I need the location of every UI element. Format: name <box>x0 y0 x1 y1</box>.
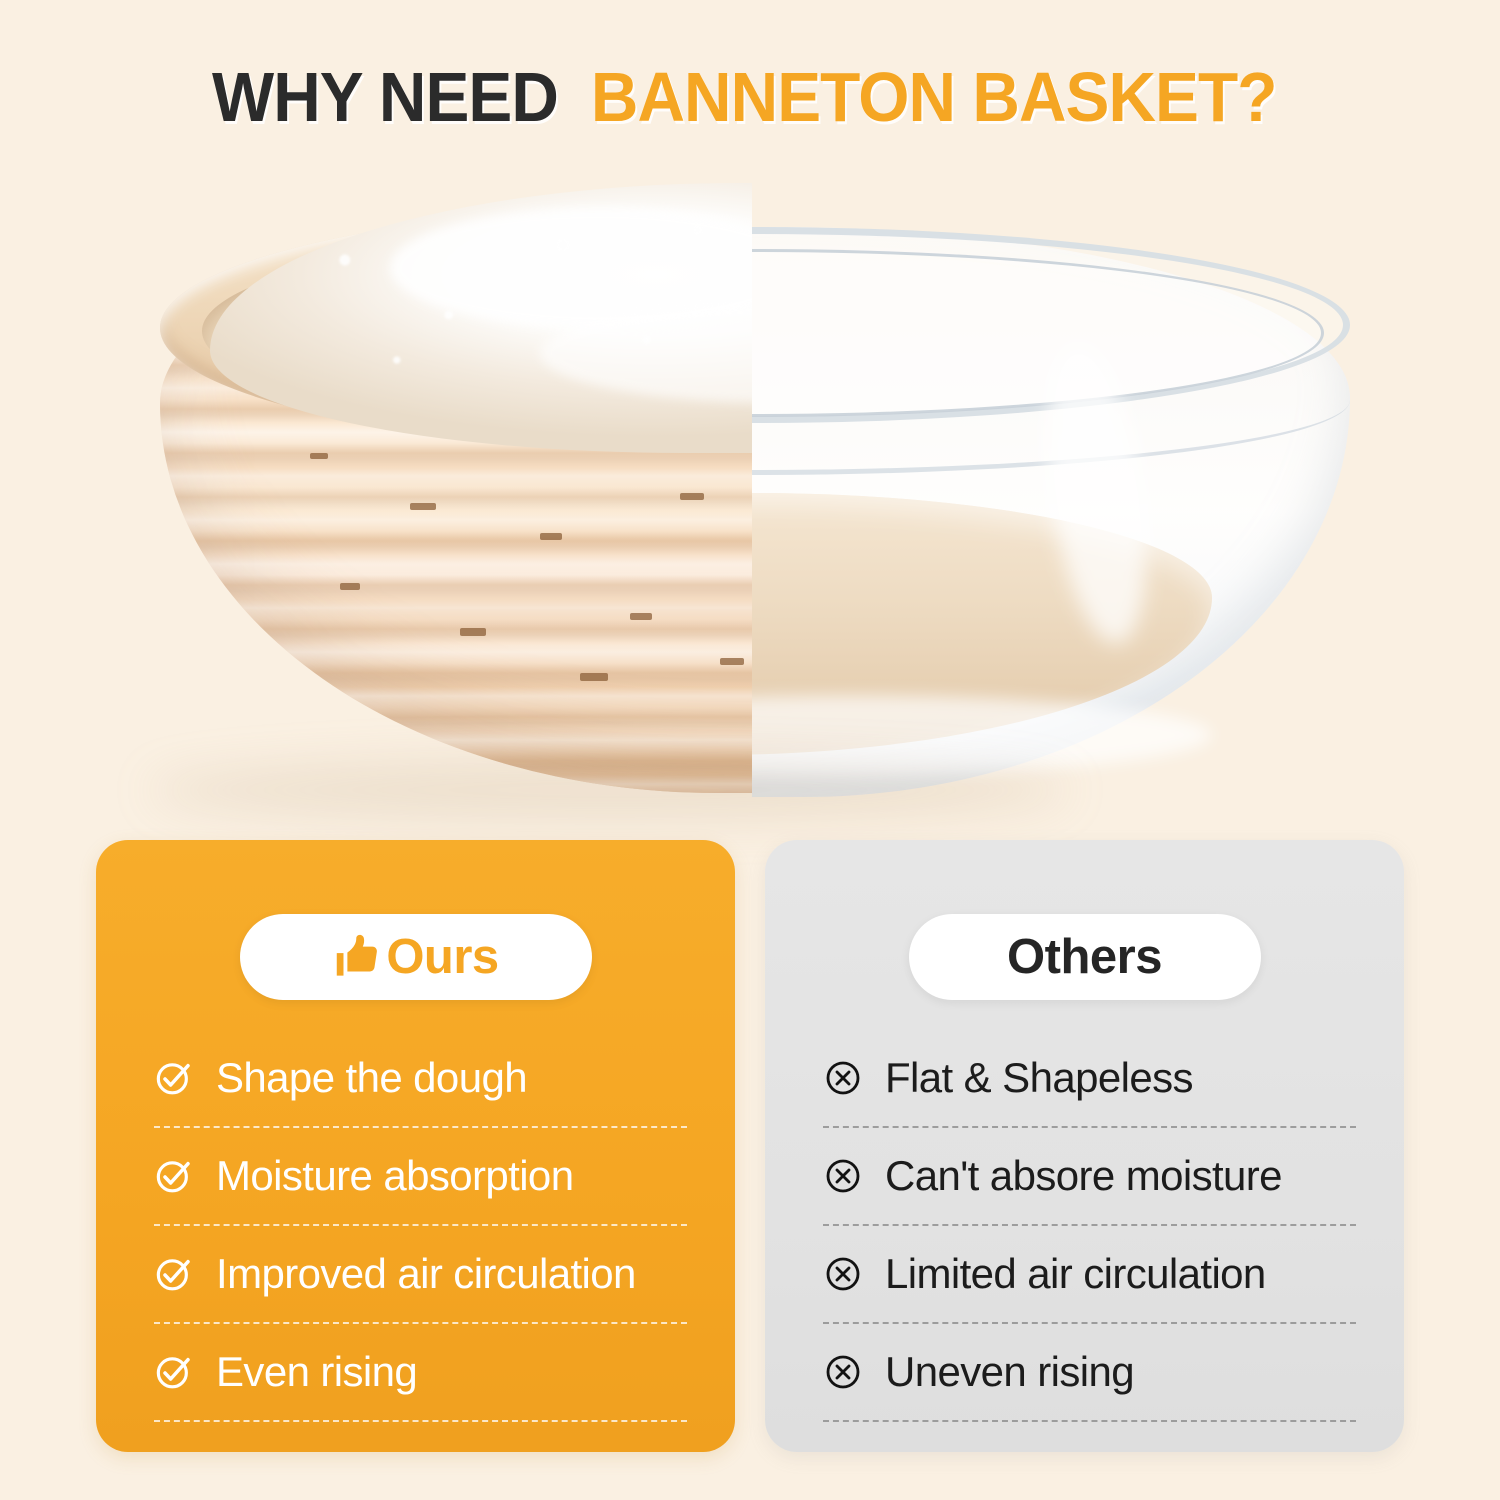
others-panel: Others Flat & Shapeless Can't absore moi… <box>765 840 1404 1452</box>
hero-product-comparison-image <box>150 175 1350 815</box>
list-item: Improved air circulation <box>154 1236 687 1312</box>
page-title: WHY NEED BANNETON BASKET? <box>0 62 1500 132</box>
ours-title-pill: Ours <box>240 914 592 1000</box>
comparison-panels: Ours Shape the dough Moisture absorption <box>96 840 1404 1452</box>
list-item: Can't absore moisture <box>823 1138 1356 1214</box>
page-title-accent: BANNETON BASKET? <box>591 62 1277 132</box>
list-item-label: Limited air circulation <box>885 1253 1266 1295</box>
others-title-pill: Others <box>909 914 1261 1000</box>
list-divider <box>154 1224 687 1226</box>
others-title-label: Others <box>1007 933 1162 982</box>
banneton-basket-image <box>150 175 752 815</box>
x-circle-icon <box>823 1156 863 1196</box>
check-circle-icon <box>154 1058 194 1098</box>
list-item-label: Improved air circulation <box>216 1253 636 1295</box>
x-circle-icon <box>823 1058 863 1098</box>
list-divider <box>823 1126 1356 1128</box>
check-circle-icon <box>154 1156 194 1196</box>
ours-title-label: Ours <box>386 933 498 982</box>
check-circle-icon <box>154 1254 194 1294</box>
list-item-label: Shape the dough <box>216 1057 527 1099</box>
list-item: Shape the dough <box>154 1040 687 1116</box>
list-item-label: Even rising <box>216 1351 417 1393</box>
list-divider <box>823 1420 1356 1422</box>
list-item-label: Flat & Shapeless <box>885 1057 1193 1099</box>
list-item: Even rising <box>154 1334 687 1410</box>
thumbs-up-icon <box>332 931 384 983</box>
list-item-label: Moisture absorption <box>216 1155 573 1197</box>
others-feature-list: Flat & Shapeless Can't absore moisture L… <box>823 1040 1356 1432</box>
glass-bowl-image <box>752 175 1350 815</box>
page-title-dark: WHY NEED <box>212 62 558 132</box>
x-circle-icon <box>823 1254 863 1294</box>
list-divider <box>823 1224 1356 1226</box>
list-divider <box>154 1420 687 1422</box>
x-circle-icon <box>823 1352 863 1392</box>
list-item: Limited air circulation <box>823 1236 1356 1312</box>
list-item-label: Uneven rising <box>885 1351 1134 1393</box>
list-divider <box>823 1322 1356 1324</box>
list-item: Moisture absorption <box>154 1138 687 1214</box>
check-circle-icon <box>154 1352 194 1392</box>
list-item: Uneven rising <box>823 1334 1356 1410</box>
list-item-label: Can't absore moisture <box>885 1155 1282 1197</box>
hero-drop-shadow <box>150 760 1070 820</box>
ours-feature-list: Shape the dough Moisture absorption Impr… <box>154 1040 687 1432</box>
list-divider <box>154 1322 687 1324</box>
list-divider <box>154 1126 687 1128</box>
list-item: Flat & Shapeless <box>823 1040 1356 1116</box>
ours-panel: Ours Shape the dough Moisture absorption <box>96 840 735 1452</box>
